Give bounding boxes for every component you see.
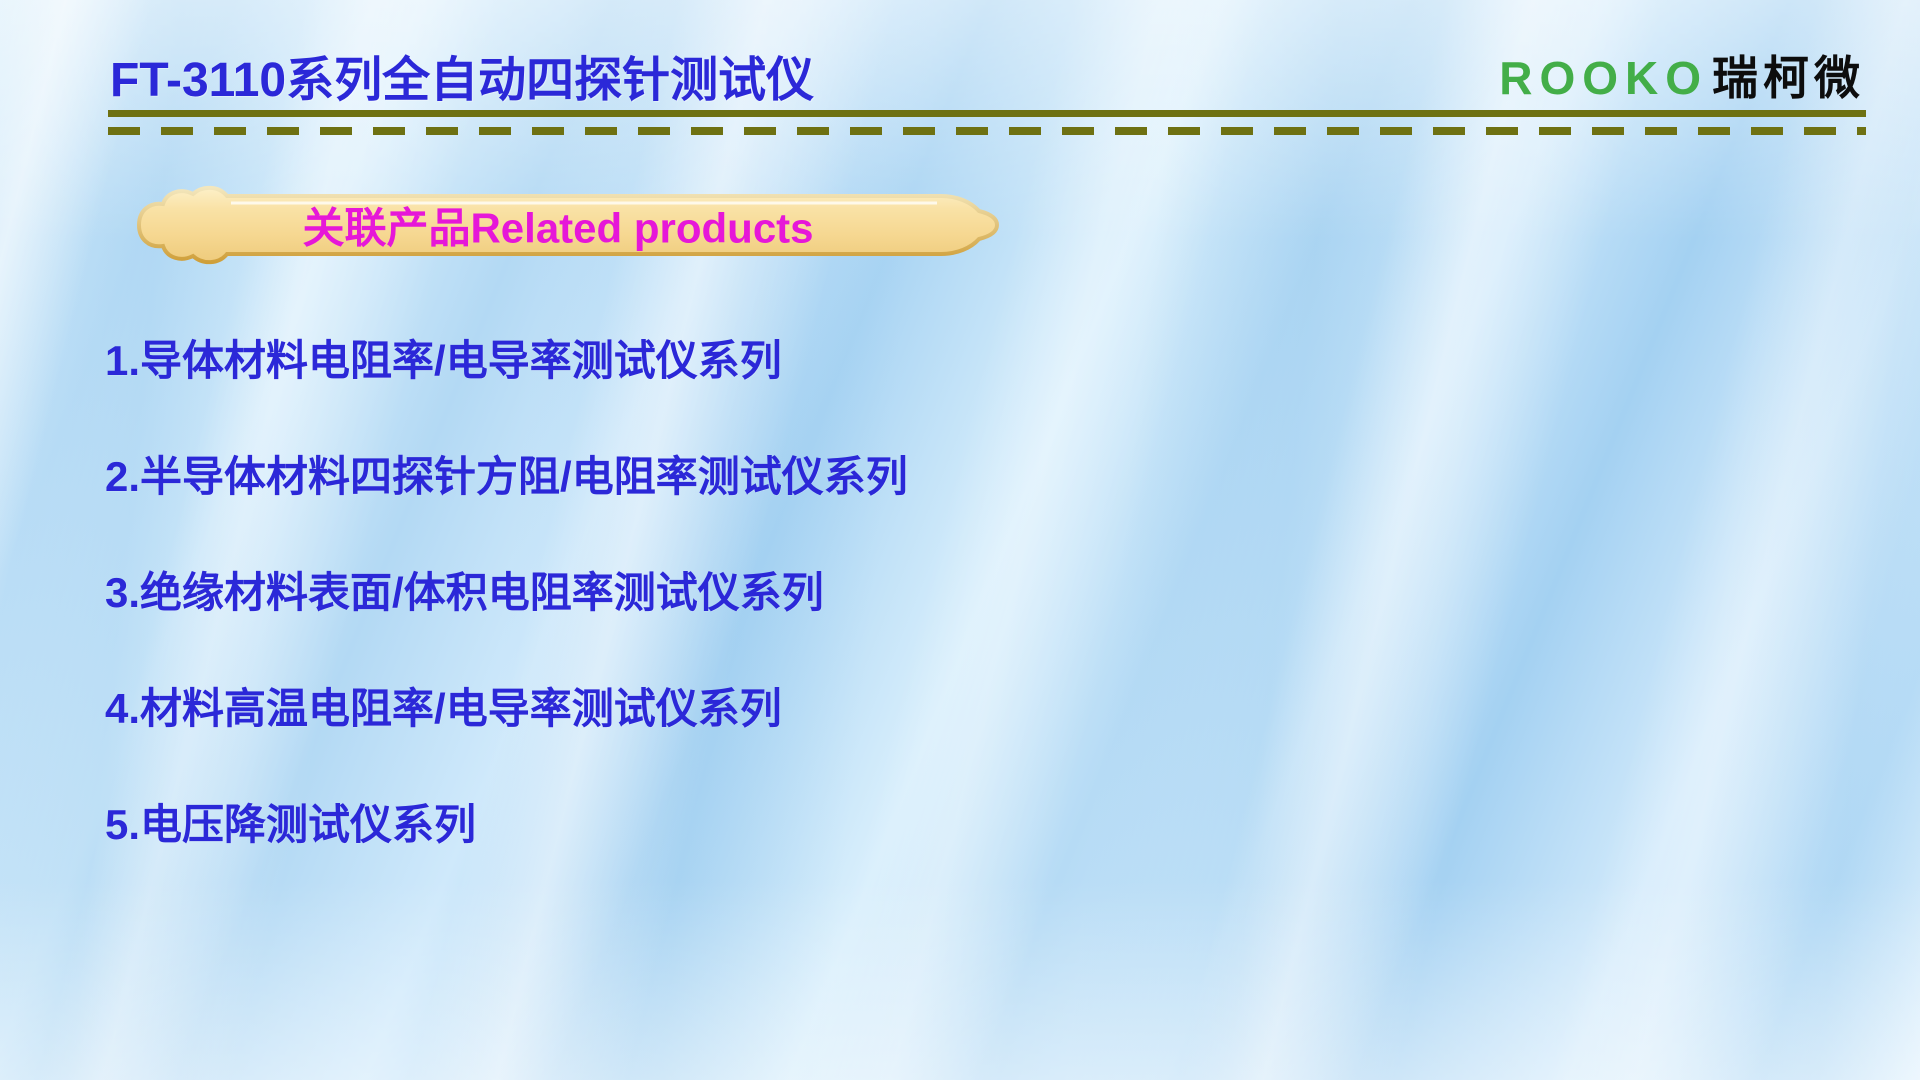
page-title: FT-3110系列全自动四探针测试仪 — [110, 40, 814, 110]
list-item: 1.导体材料电阻率/电导率测试仪系列 — [105, 340, 1805, 382]
header-dashed-rule — [108, 127, 1866, 135]
list-item: 4.材料高温电阻率/电导率测试仪系列 — [105, 688, 1805, 730]
list-item: 3.绝缘材料表面/体积电阻率测试仪系列 — [105, 572, 1805, 614]
header-solid-rule — [108, 110, 1866, 117]
list-item: 2.半导体材料四探针方阻/电阻率测试仪系列 — [105, 456, 1805, 498]
background-bottom-glow — [0, 880, 1920, 1080]
section-banner: 关联产品Related products — [105, 180, 1025, 270]
related-products-list: 1.导体材料电阻率/电导率测试仪系列 2.半导体材料四探针方阻/电阻率测试仪系列… — [105, 340, 1805, 846]
list-item: 5.电压降测试仪系列 — [105, 804, 1805, 846]
slide-header: FT-3110系列全自动四探针测试仪 ROOKO 瑞柯微 — [0, 0, 1920, 150]
section-banner-label: 关联产品Related products — [105, 195, 1025, 256]
brand-logo-chinese: 瑞柯微 — [1712, 42, 1865, 108]
slide-root: FT-3110系列全自动四探针测试仪 ROOKO 瑞柯微 — [0, 0, 1920, 1080]
brand-logo-english: ROOKO — [1499, 51, 1708, 105]
brand-logo: ROOKO 瑞柯微 — [1499, 42, 1865, 108]
